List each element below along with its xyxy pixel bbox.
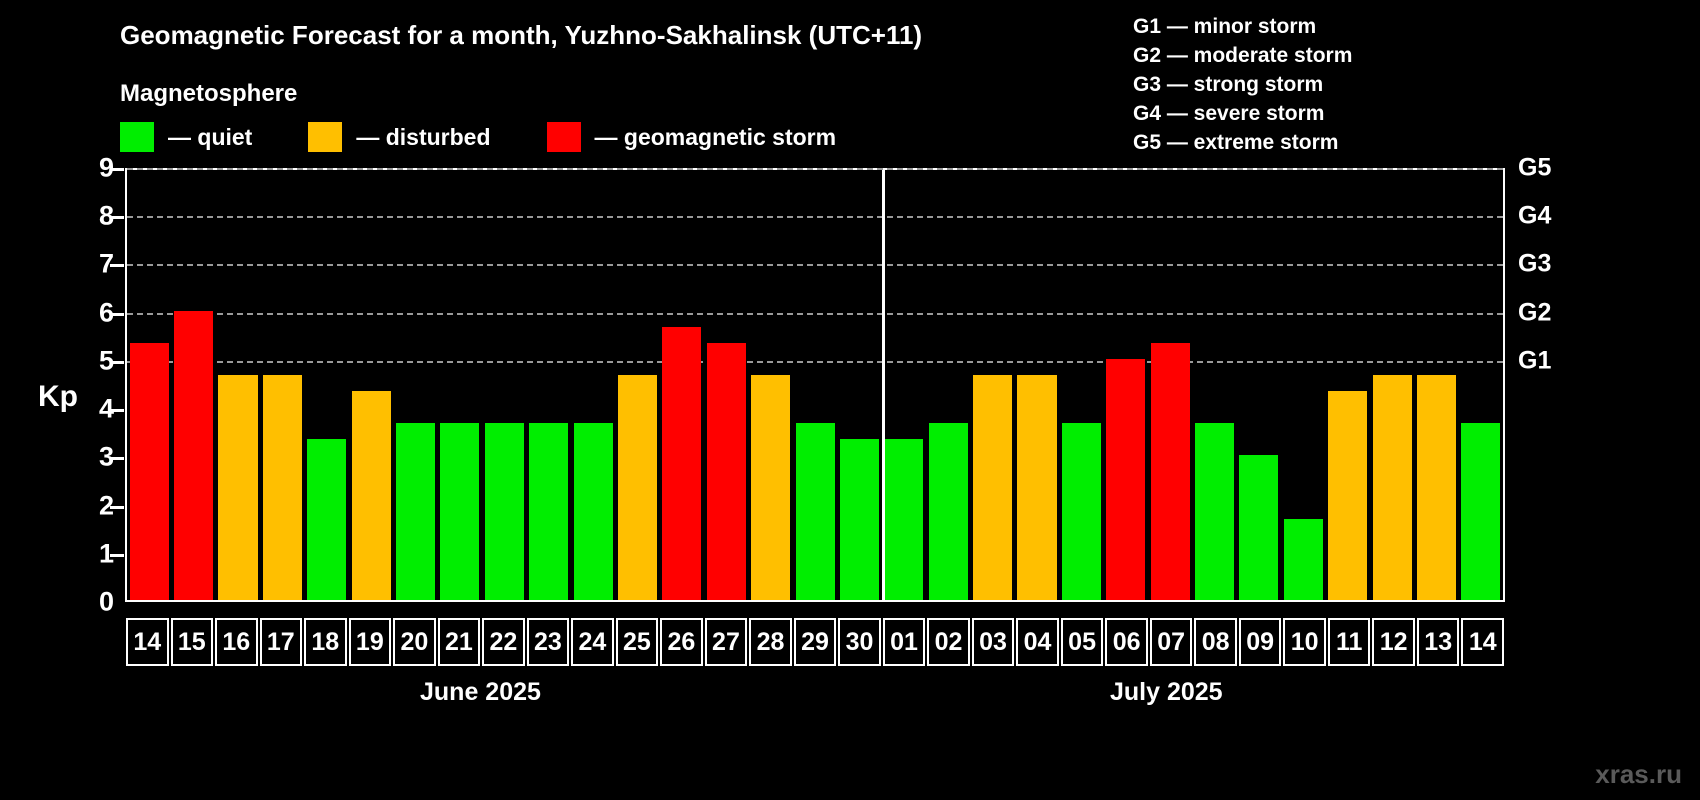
bar-cell-03[interactable] <box>970 170 1014 600</box>
bar[interactable] <box>218 375 257 600</box>
date-label-18: 18 <box>304 618 347 666</box>
bar-cell-13[interactable] <box>1414 170 1458 600</box>
date-label-14: 14 <box>126 618 169 666</box>
y-tick-mark-9 <box>110 168 124 171</box>
date-label-29: 29 <box>794 618 837 666</box>
month-label-1: July 2025 <box>1110 678 1223 707</box>
bar[interactable] <box>973 375 1012 600</box>
bar-cell-07[interactable] <box>1148 170 1192 600</box>
magnetosphere-label: Magnetosphere <box>120 80 297 108</box>
bar-cell-23[interactable] <box>527 170 571 600</box>
geomagnetic-forecast-chart: Geomagnetic Forecast for a month, Yuzhno… <box>0 0 1700 800</box>
red-square-icon <box>547 122 581 152</box>
y-tick-mark-7 <box>110 264 124 267</box>
y-tick-mark-2 <box>110 506 124 509</box>
date-label-14: 14 <box>1461 618 1504 666</box>
g-scale-row-5: G5 — extreme storm <box>1133 128 1352 157</box>
bar-cell-01[interactable] <box>882 170 926 600</box>
bar[interactable] <box>1328 391 1367 600</box>
bar[interactable] <box>174 311 213 600</box>
g-scale-row-2: G2 — moderate storm <box>1133 41 1352 70</box>
date-label-28: 28 <box>749 618 792 666</box>
bar[interactable] <box>1417 375 1456 600</box>
bar-cell-04[interactable] <box>1015 170 1059 600</box>
bar-cell-18[interactable] <box>305 170 349 600</box>
bar[interactable] <box>263 375 302 600</box>
month-divider <box>882 170 885 600</box>
g-axis-label-G4: G4 <box>1518 202 1551 231</box>
date-label-24: 24 <box>571 618 614 666</box>
bar[interactable] <box>307 439 346 600</box>
bar[interactable] <box>1239 455 1278 600</box>
bar-cell-05[interactable] <box>1059 170 1103 600</box>
y-tick-label-6: 6 <box>74 297 114 328</box>
y-tick-label-7: 7 <box>74 249 114 280</box>
bar[interactable] <box>662 327 701 600</box>
date-label-17: 17 <box>260 618 303 666</box>
g-axis-label-G2: G2 <box>1518 298 1551 327</box>
legend-item-1: — disturbed <box>308 122 490 152</box>
bar-cell-20[interactable] <box>393 170 437 600</box>
g-axis-label-G5: G5 <box>1518 154 1551 183</box>
y-tick-label-0: 0 <box>74 587 114 618</box>
y-tick-label-3: 3 <box>74 442 114 473</box>
bar-cell-08[interactable] <box>1192 170 1236 600</box>
date-label-21: 21 <box>438 618 481 666</box>
y-tick-mark-5 <box>110 361 124 364</box>
g-scale-legend: G1 — minor stormG2 — moderate stormG3 — … <box>1133 12 1352 157</box>
bar-cell-25[interactable] <box>615 170 659 600</box>
date-label-04: 04 <box>1016 618 1059 666</box>
y-tick-mark-4 <box>110 409 124 412</box>
g-scale-row-3: G3 — strong storm <box>1133 70 1352 99</box>
y-tick-label-4: 4 <box>74 394 114 425</box>
bar-cell-14[interactable] <box>1459 170 1503 600</box>
bar[interactable] <box>840 439 879 600</box>
bar-cell-26[interactable] <box>660 170 704 600</box>
bar[interactable] <box>352 391 391 600</box>
date-label-25: 25 <box>616 618 659 666</box>
g-scale-row-1: G1 — minor storm <box>1133 12 1352 41</box>
y-tick-label-1: 1 <box>74 538 114 569</box>
bar-cell-09[interactable] <box>1237 170 1281 600</box>
bar[interactable] <box>1284 519 1323 600</box>
bar[interactable] <box>1106 359 1145 600</box>
y-tick-mark-8 <box>110 216 124 219</box>
bar-cell-19[interactable] <box>349 170 393 600</box>
bar[interactable] <box>884 439 923 600</box>
bar-cell-27[interactable] <box>704 170 748 600</box>
y-tick-label-5: 5 <box>74 345 114 376</box>
bar[interactable] <box>529 423 568 600</box>
bar[interactable] <box>396 423 435 600</box>
date-label-03: 03 <box>972 618 1015 666</box>
date-label-07: 07 <box>1150 618 1193 666</box>
date-label-01: 01 <box>883 618 926 666</box>
date-label-09: 09 <box>1239 618 1282 666</box>
bar[interactable] <box>485 423 524 600</box>
bar[interactable] <box>130 343 169 600</box>
date-label-30: 30 <box>838 618 881 666</box>
y-tick-mark-1 <box>110 554 124 557</box>
date-label-11: 11 <box>1328 618 1371 666</box>
bar-cell-15[interactable] <box>171 170 215 600</box>
bar-cell-24[interactable] <box>571 170 615 600</box>
legend-label: — geomagnetic storm <box>595 124 837 151</box>
date-label-26: 26 <box>660 618 703 666</box>
date-label-23: 23 <box>527 618 570 666</box>
bar[interactable] <box>751 375 790 600</box>
legend-label: — quiet <box>168 124 252 151</box>
bar[interactable] <box>1017 375 1056 600</box>
green-square-icon <box>120 122 154 152</box>
bar[interactable] <box>707 343 746 600</box>
g-axis-label-G1: G1 <box>1518 346 1551 375</box>
legend-item-2: — geomagnetic storm <box>547 122 837 152</box>
y-tick-mark-3 <box>110 457 124 460</box>
magnetosphere-legend: — quiet— disturbed— geomagnetic storm <box>120 122 892 152</box>
watermark: xras.ru <box>1595 759 1682 790</box>
date-label-27: 27 <box>705 618 748 666</box>
date-label-06: 06 <box>1105 618 1148 666</box>
orange-square-icon <box>308 122 342 152</box>
date-label-08: 08 <box>1194 618 1237 666</box>
date-label-15: 15 <box>171 618 214 666</box>
bar-cell-17[interactable] <box>260 170 304 600</box>
bar[interactable] <box>618 375 657 600</box>
date-label-19: 19 <box>349 618 392 666</box>
y-tick-label-8: 8 <box>74 201 114 232</box>
legend-item-0: — quiet <box>120 122 252 152</box>
date-label-12: 12 <box>1372 618 1415 666</box>
bar-cell-06[interactable] <box>1104 170 1148 600</box>
bar-cell-21[interactable] <box>438 170 482 600</box>
date-label-22: 22 <box>482 618 525 666</box>
g-axis-label-G3: G3 <box>1518 250 1551 279</box>
bar-cell-28[interactable] <box>748 170 792 600</box>
bar[interactable] <box>1461 423 1500 600</box>
bar[interactable] <box>1195 423 1234 600</box>
bar-cell-11[interactable] <box>1326 170 1370 600</box>
bar-cell-22[interactable] <box>482 170 526 600</box>
bar[interactable] <box>1151 343 1190 600</box>
month-label-0: June 2025 <box>420 678 541 707</box>
date-label-20: 20 <box>393 618 436 666</box>
y-tick-mark-6 <box>110 313 124 316</box>
bar[interactable] <box>1373 375 1412 600</box>
date-label-16: 16 <box>215 618 258 666</box>
g-scale-row-4: G4 — severe storm <box>1133 99 1352 128</box>
date-label-10: 10 <box>1283 618 1326 666</box>
bar[interactable] <box>929 423 968 600</box>
y-tick-label-9: 9 <box>74 153 114 184</box>
y-axis-title: Kp <box>38 380 78 414</box>
legend-label: — disturbed <box>356 124 490 151</box>
bar[interactable] <box>440 423 479 600</box>
bar-cell-02[interactable] <box>926 170 970 600</box>
bar[interactable] <box>574 423 613 600</box>
bar-cell-12[interactable] <box>1370 170 1414 600</box>
bar-series <box>127 170 1503 600</box>
date-label-13: 13 <box>1417 618 1460 666</box>
bar-cell-16[interactable] <box>216 170 260 600</box>
bar-cell-10[interactable] <box>1281 170 1325 600</box>
plot-area <box>125 168 1505 602</box>
bar[interactable] <box>796 423 835 600</box>
date-label-05: 05 <box>1061 618 1104 666</box>
date-axis: 1415161718192021222324252627282930010203… <box>125 618 1505 666</box>
bar-cell-30[interactable] <box>837 170 881 600</box>
date-label-02: 02 <box>927 618 970 666</box>
bar-cell-29[interactable] <box>793 170 837 600</box>
bar[interactable] <box>1062 423 1101 600</box>
page-title: Geomagnetic Forecast for a month, Yuzhno… <box>120 20 922 51</box>
bar-cell-14[interactable] <box>127 170 171 600</box>
y-tick-label-2: 2 <box>74 490 114 521</box>
